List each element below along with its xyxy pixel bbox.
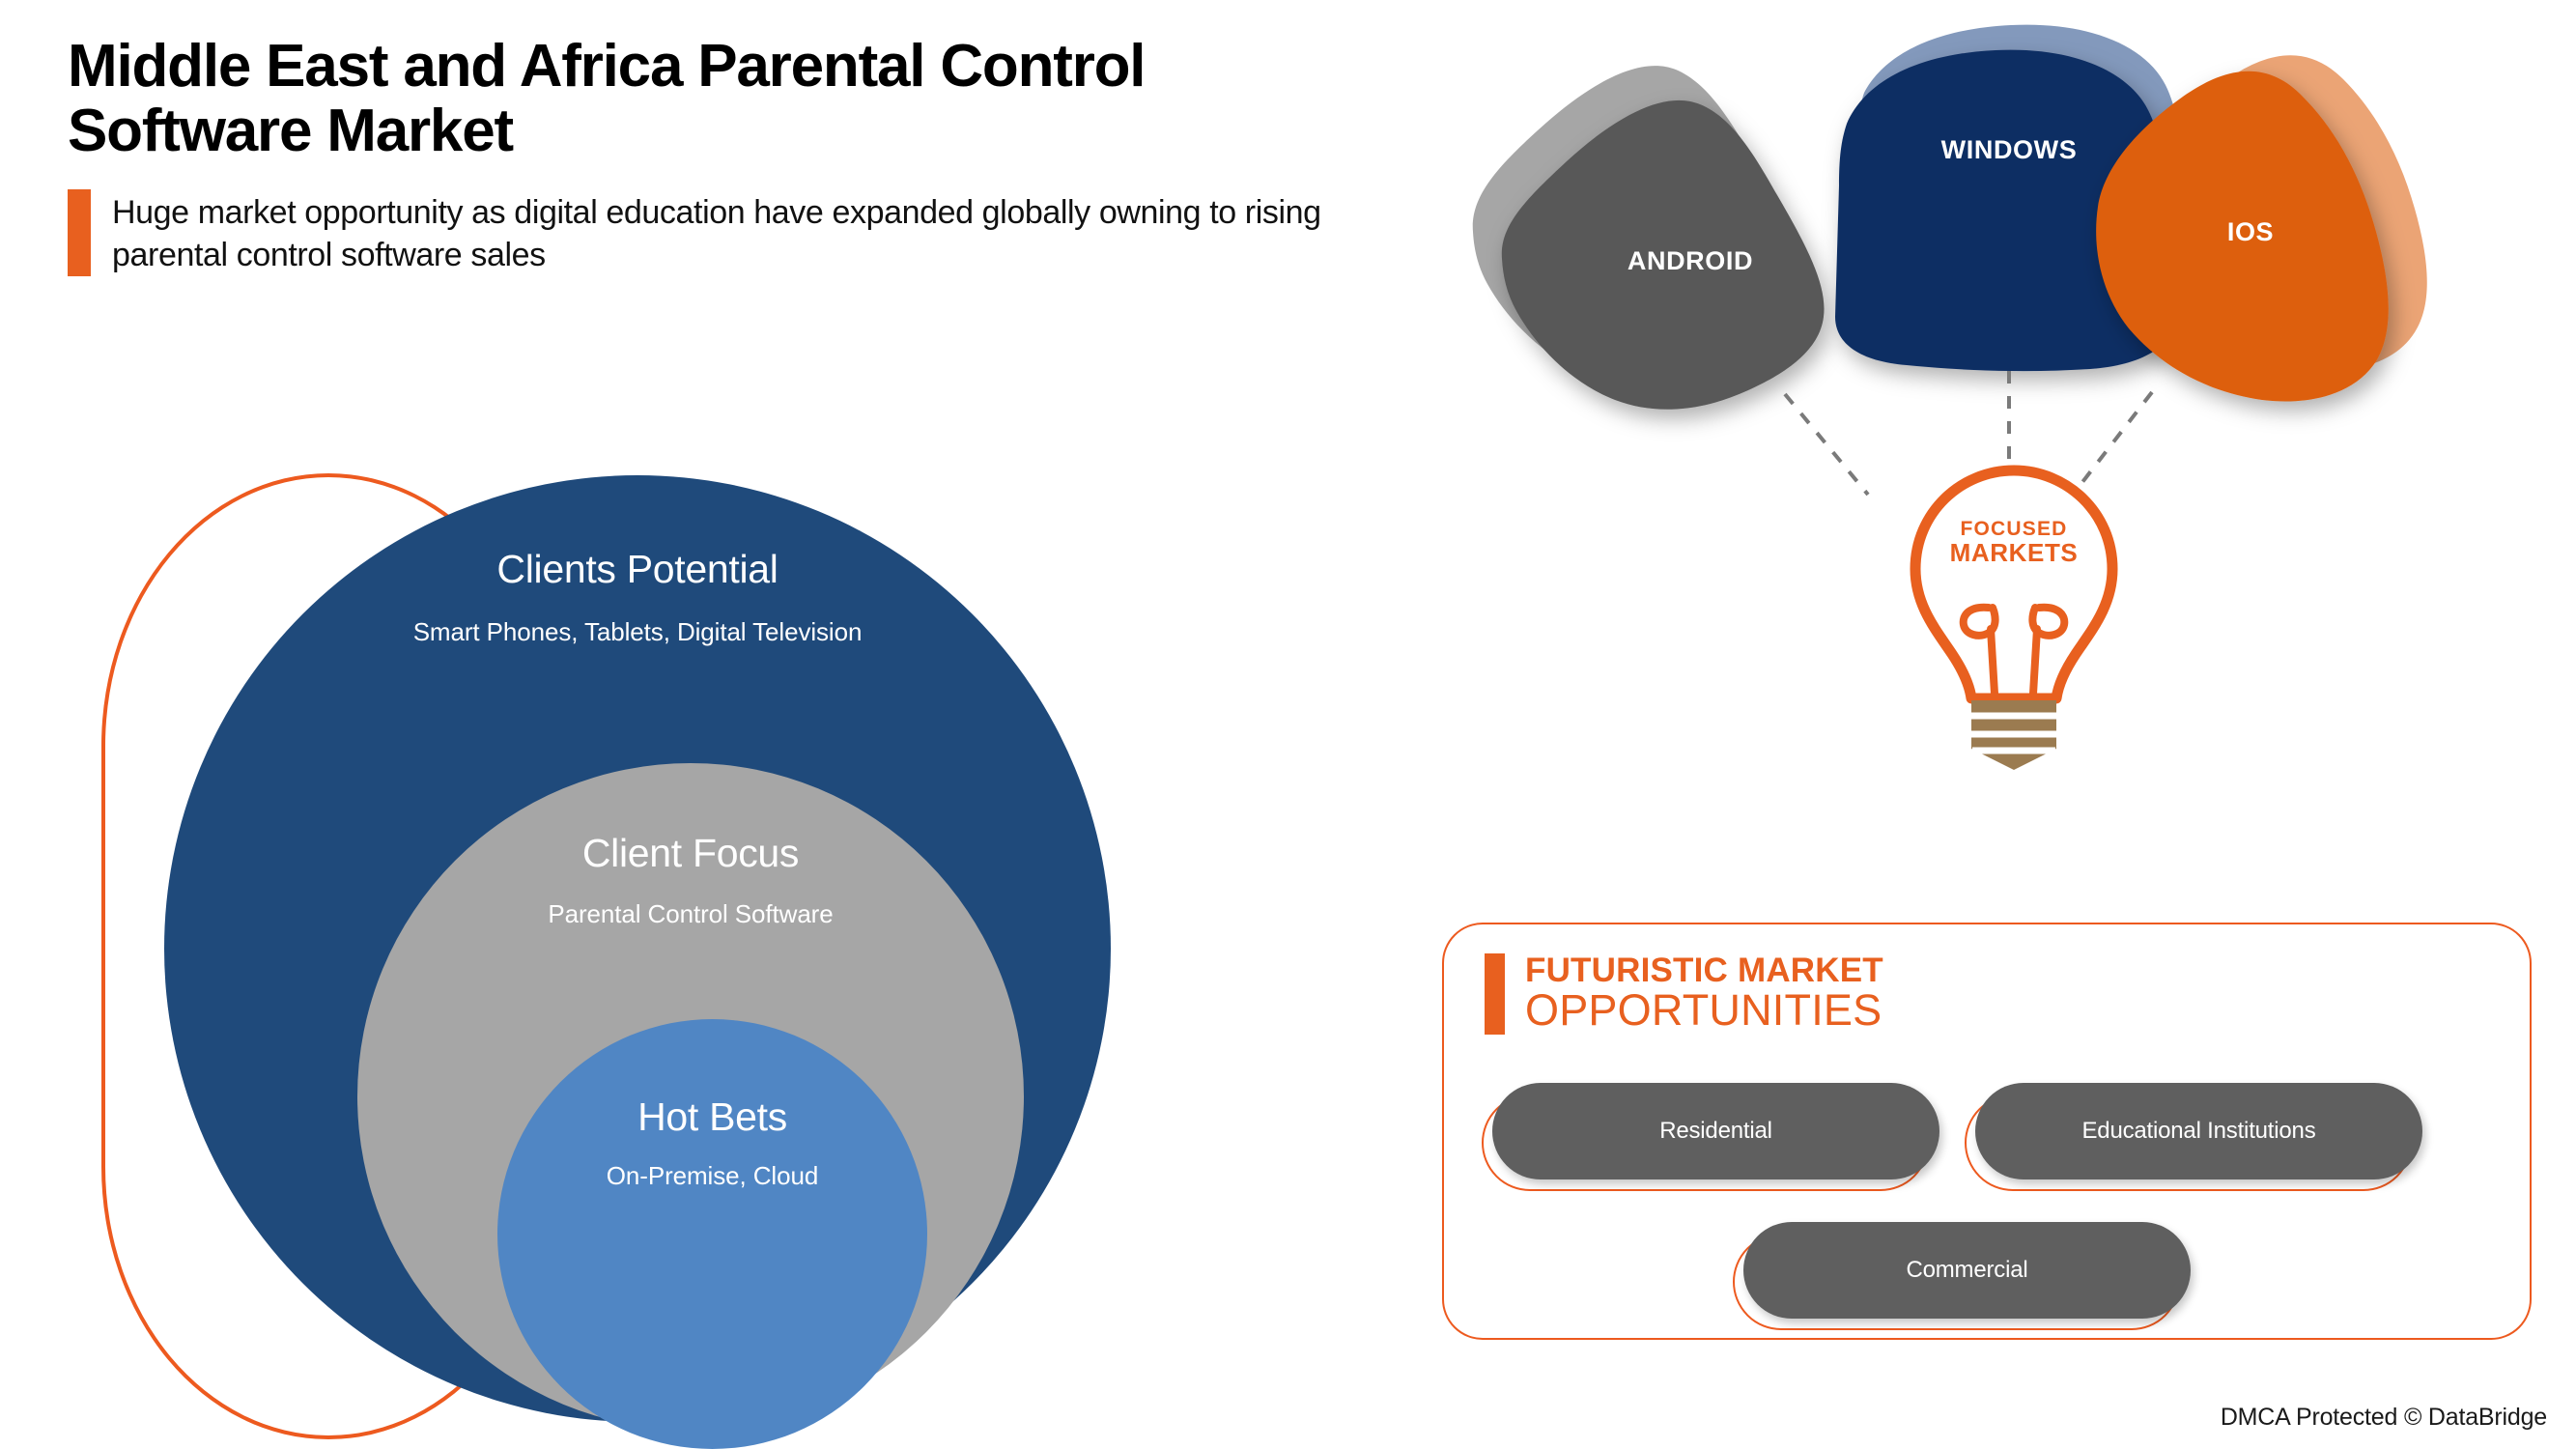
opportunities-heading-line2: OPPORTUNITIES [1525, 987, 1883, 1035]
ring-hot-bets-subtitle: On-Premise, Cloud [607, 1161, 818, 1191]
platform-ios[interactable]: IOS [2106, 97, 2395, 367]
ring-clients-potential-subtitle: Smart Phones, Tablets, Digital Televisio… [413, 617, 863, 647]
page-title: Middle East and Africa Parental Control … [68, 35, 1323, 164]
ring-clients-potential-title: Clients Potential [496, 547, 778, 592]
platform-android[interactable]: ANDROID [1526, 97, 1854, 425]
platform-windows-label: WINDOWS [1941, 135, 2078, 165]
page-subtitle: Huge market opportunity as digital educa… [112, 189, 1420, 276]
opportunity-pill-commercial-label: Commercial [1906, 1257, 2027, 1284]
ring-hot-bets-title: Hot Bets [637, 1094, 787, 1140]
opportunity-pill-educational-institutions-label: Educational Institutions [2081, 1118, 2315, 1145]
concentric-circles-diagram: Clients Potential Smart Phones, Tablets,… [58, 444, 1178, 1430]
opportunity-pill-residential[interactable]: Residential [1492, 1083, 1939, 1179]
orange-accent-bar-icon [68, 189, 91, 276]
ring-hot-bets[interactable]: Hot Bets On-Premise, Cloud [497, 1019, 927, 1449]
opportunity-pill-commercial[interactable]: Commercial [1743, 1222, 2191, 1319]
footer-credit: DMCA Protected © DataBridge [2221, 1404, 2547, 1432]
lightbulb-icon [1869, 459, 2159, 787]
lightbulb-glass [1915, 470, 2112, 698]
header-block: Middle East and Africa Parental Control … [68, 35, 1420, 276]
pill-body[interactable]: Commercial [1743, 1222, 2191, 1319]
subtitle-row: Huge market opportunity as digital educa… [68, 189, 1420, 276]
opportunity-pill-residential-label: Residential [1659, 1118, 1772, 1145]
opportunities-heading-row: FUTURISTIC MARKET OPPORTUNITIES [1485, 953, 1883, 1035]
focused-markets-lightbulb[interactable]: FOCUSED MARKETS [1869, 459, 2159, 787]
ring-client-focus-title: Client Focus [582, 831, 799, 876]
ring-client-focus-subtitle: Parental Control Software [548, 899, 833, 929]
opportunities-heading-line1: FUTURISTIC MARKET [1525, 953, 1883, 987]
pill-body[interactable]: Residential [1492, 1083, 1939, 1179]
orange-accent-bar-icon [1485, 953, 1505, 1035]
pill-body[interactable]: Educational Institutions [1975, 1083, 2422, 1179]
opportunities-heading-text: FUTURISTIC MARKET OPPORTUNITIES [1525, 953, 1883, 1035]
platform-android-label: ANDROID [1628, 246, 1753, 276]
platform-ios-label: IOS [2227, 217, 2274, 247]
futuristic-market-opportunities-panel: FUTURISTIC MARKET OPPORTUNITIES Resident… [1442, 923, 2532, 1340]
platforms-group: ANDROID WINDOWS IOS [1449, 0, 2576, 502]
opportunity-pill-educational-institutions[interactable]: Educational Institutions [1975, 1083, 2422, 1179]
